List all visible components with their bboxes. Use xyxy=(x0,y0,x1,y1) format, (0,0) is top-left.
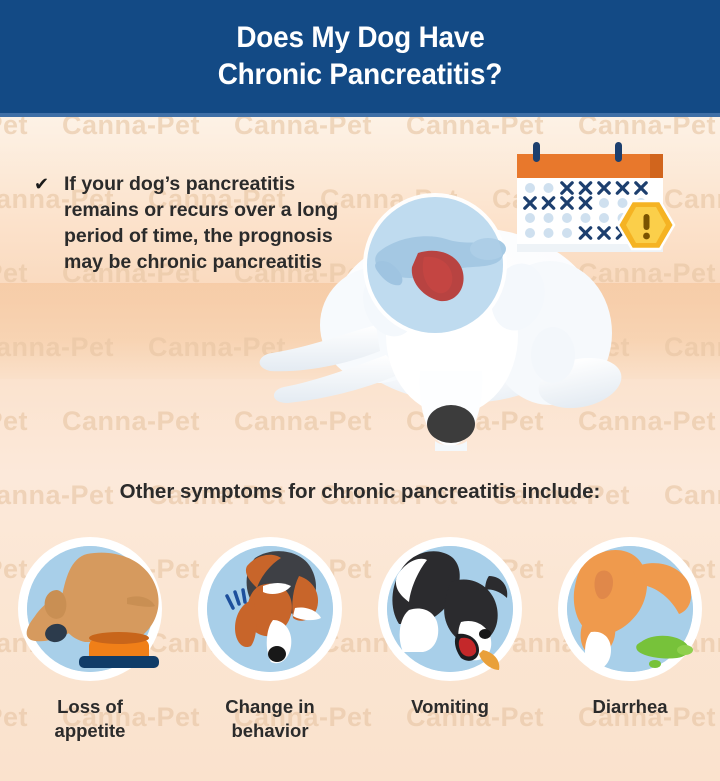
bullet-block: ✔ If your dog’s pancreatitis remains or … xyxy=(34,172,354,276)
symptom-label-4: Diarrhea xyxy=(592,695,667,719)
calendar-day-dot xyxy=(599,213,609,223)
calendar-day-dot xyxy=(544,213,554,223)
symptom-label-1: Loss of appetite xyxy=(55,695,126,742)
food-bowl-icon xyxy=(79,632,159,668)
symptom-label-3: Vomiting xyxy=(411,695,489,719)
symptom-circle-4 xyxy=(558,537,702,681)
calendar-ring-left xyxy=(533,142,540,162)
dog-chest-3 xyxy=(400,609,439,653)
dog-refusing-food-icon xyxy=(27,546,153,672)
organ-magnifier-overlay xyxy=(363,193,507,337)
symptom-circle-1 xyxy=(18,537,162,681)
dog-behavior-change-icon xyxy=(207,546,333,672)
dog-diarrhea-icon xyxy=(567,546,693,672)
symptom-item-vomiting[interactable]: Vomiting xyxy=(360,537,540,777)
bullet-text: If your dog’s pancreatitis remains or re… xyxy=(64,172,354,276)
calendar-illustration xyxy=(500,136,680,266)
header-underline xyxy=(0,113,720,117)
symptom-circle-2 xyxy=(198,537,342,681)
calendar-day-dot xyxy=(544,228,554,238)
dog-nose-3 xyxy=(479,629,491,639)
warning-hexagon-icon xyxy=(618,201,674,249)
vomit-icon xyxy=(479,650,499,670)
calendar-day-dot xyxy=(525,228,535,238)
dog-nose-2 xyxy=(268,646,286,662)
calendar-day-dot xyxy=(599,198,609,208)
symptoms-row: Loss of appetite xyxy=(0,537,720,777)
header-banner: Does My Dog Have Chronic Pancreatitis? xyxy=(0,0,720,113)
dog-nose-icon xyxy=(427,405,475,443)
calendar-day-dot xyxy=(618,198,628,208)
calendar-day-dot xyxy=(581,213,591,223)
page-title-line2: Chronic Pancreatitis? xyxy=(218,57,502,94)
symptom-circle-3 xyxy=(378,537,522,681)
symptom-item-change-in-behavior[interactable]: Change in behavior xyxy=(180,537,360,777)
calendar-ring-right xyxy=(615,142,622,162)
calendar-day-dot xyxy=(525,213,535,223)
dog-vomiting-icon xyxy=(387,546,513,672)
infographic-page: Canna-PetCanna-PetCanna-PetCanna-PetCann… xyxy=(0,0,720,781)
page-title-line1: Does My Dog Have xyxy=(236,20,484,57)
symptom-label-2: Change in behavior xyxy=(225,695,314,742)
calendar-day-dot xyxy=(562,228,572,238)
symptom-item-diarrhea[interactable]: Diarrhea xyxy=(540,537,720,777)
check-icon: ✔ xyxy=(34,172,52,192)
calendar-day-dot xyxy=(562,213,572,223)
section-subtitle: Other symptoms for chronic pancreatitis … xyxy=(0,480,720,504)
symptom-item-loss-of-appetite[interactable]: Loss of appetite xyxy=(0,537,180,777)
dog-rear-leg xyxy=(531,327,575,383)
calendar-day-dot xyxy=(525,183,535,193)
calendar-day-dot xyxy=(544,183,554,193)
